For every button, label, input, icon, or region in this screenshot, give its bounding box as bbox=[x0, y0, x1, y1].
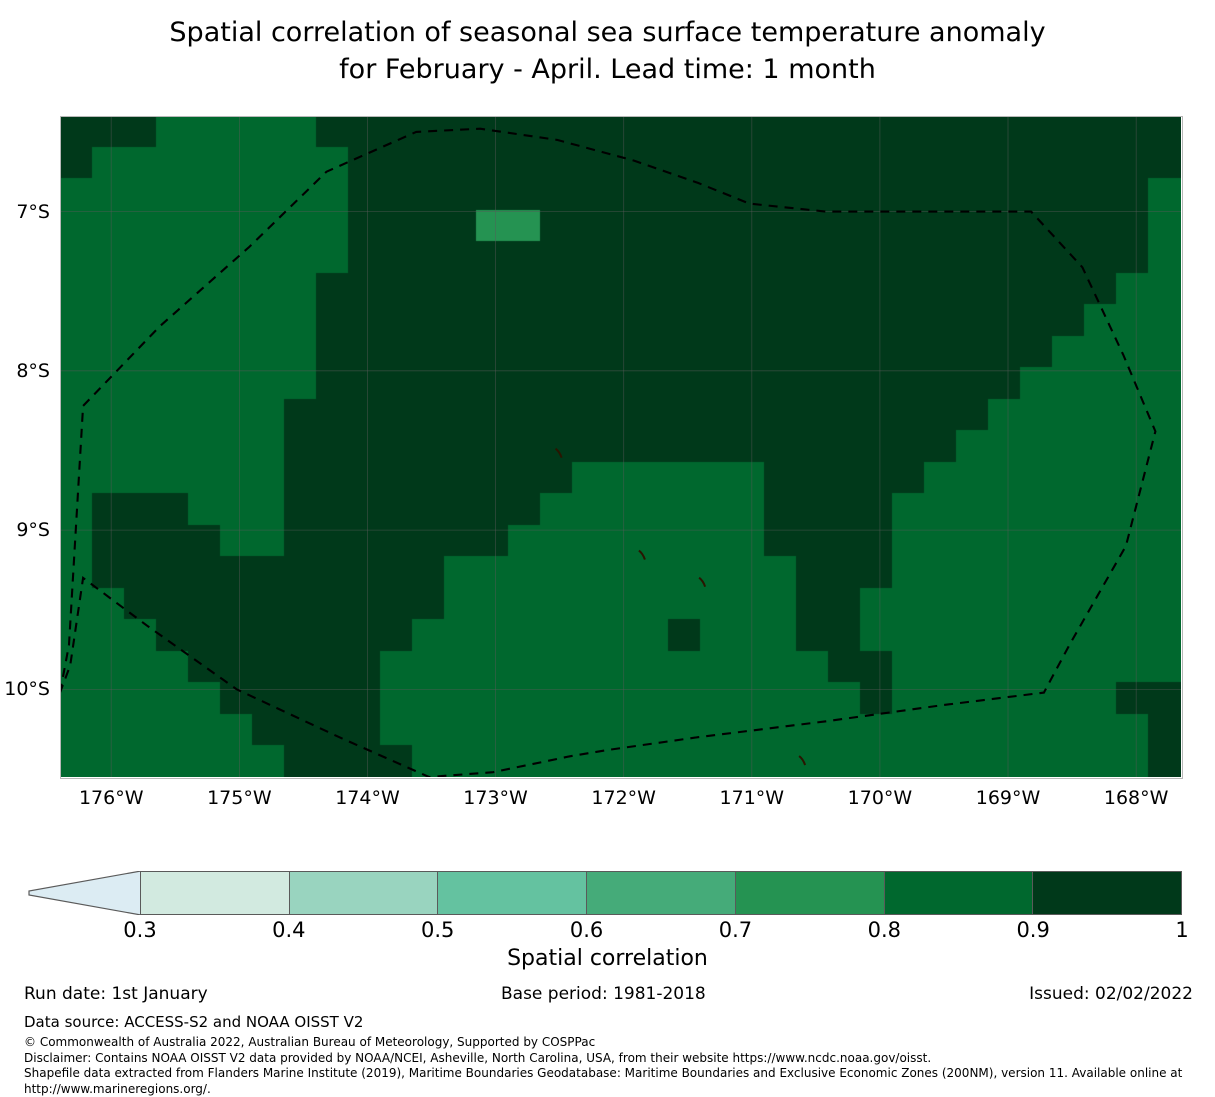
x-axis-tick-label: 173°W bbox=[463, 787, 528, 809]
colorbar: 0.30.40.50.60.70.80.91 Spatial correlati… bbox=[0, 862, 1215, 962]
colorbar-tick-label: 0.9 bbox=[1016, 918, 1049, 942]
run-date: Run date: 1st January bbox=[24, 984, 208, 1004]
colorbar-tick-label: 0.5 bbox=[421, 918, 454, 942]
colorbar-tick-label: 0.4 bbox=[272, 918, 305, 942]
y-axis-tick-label: 10°S bbox=[0, 678, 50, 700]
page-title: Spatial correlation of seasonal sea surf… bbox=[0, 14, 1215, 88]
x-axis-tick-label: 174°W bbox=[335, 787, 400, 809]
y-axis-tick-label: 7°S bbox=[0, 201, 50, 223]
colorbar-tick-label: 0.3 bbox=[123, 918, 156, 942]
data-source: Data source: ACCESS-S2 and NOAA OISST V2 bbox=[24, 1013, 363, 1031]
fineprint-line: Shapefile data extracted from Flanders M… bbox=[24, 1066, 1209, 1082]
colorbar-tick-label: 0.6 bbox=[570, 918, 603, 942]
fineprint-line: Disclaimer: Contains NOAA OISST V2 data … bbox=[24, 1051, 1209, 1067]
x-axis-tick-label: 170°W bbox=[848, 787, 913, 809]
colorbar-band bbox=[885, 872, 1034, 914]
colorbar-band bbox=[141, 872, 290, 914]
colorbar-tick-label: 0.7 bbox=[719, 918, 752, 942]
colorbar-band bbox=[587, 872, 736, 914]
colorbar-tick-label: 1 bbox=[1175, 918, 1188, 942]
x-axis-tick-label: 171°W bbox=[720, 787, 785, 809]
map-plot-area bbox=[60, 116, 1181, 777]
colorbar-tick-label: 0.8 bbox=[868, 918, 901, 942]
x-axis-tick-label: 169°W bbox=[976, 787, 1041, 809]
base-period: Base period: 1981-2018 bbox=[501, 984, 706, 1004]
correlation-heatmap bbox=[60, 116, 1181, 777]
fineprint-line: © Commonwealth of Australia 2022, Austra… bbox=[24, 1035, 1209, 1051]
y-axis-tick-label: 9°S bbox=[0, 519, 50, 541]
issued-date: Issued: 02/02/2022 bbox=[1029, 984, 1193, 1004]
colorbar-band bbox=[1033, 872, 1181, 914]
colorbar-under-arrow bbox=[27, 871, 141, 915]
x-axis-tick-label: 175°W bbox=[207, 787, 272, 809]
x-axis-tick-label: 172°W bbox=[591, 787, 656, 809]
fineprint-block: © Commonwealth of Australia 2022, Austra… bbox=[24, 1035, 1209, 1097]
y-axis-tick-label: 8°S bbox=[0, 360, 50, 382]
colorbar-band bbox=[736, 872, 885, 914]
colorbar-band bbox=[438, 872, 587, 914]
x-axis-tick-label: 176°W bbox=[79, 787, 144, 809]
footer-info-row: Run date: 1st January Base period: 1981-… bbox=[0, 984, 1215, 1006]
x-axis-tick-label: 168°W bbox=[1104, 787, 1169, 809]
colorbar-label: Spatial correlation bbox=[0, 946, 1215, 971]
colorbar-bands bbox=[140, 871, 1182, 915]
colorbar-band bbox=[290, 872, 439, 914]
